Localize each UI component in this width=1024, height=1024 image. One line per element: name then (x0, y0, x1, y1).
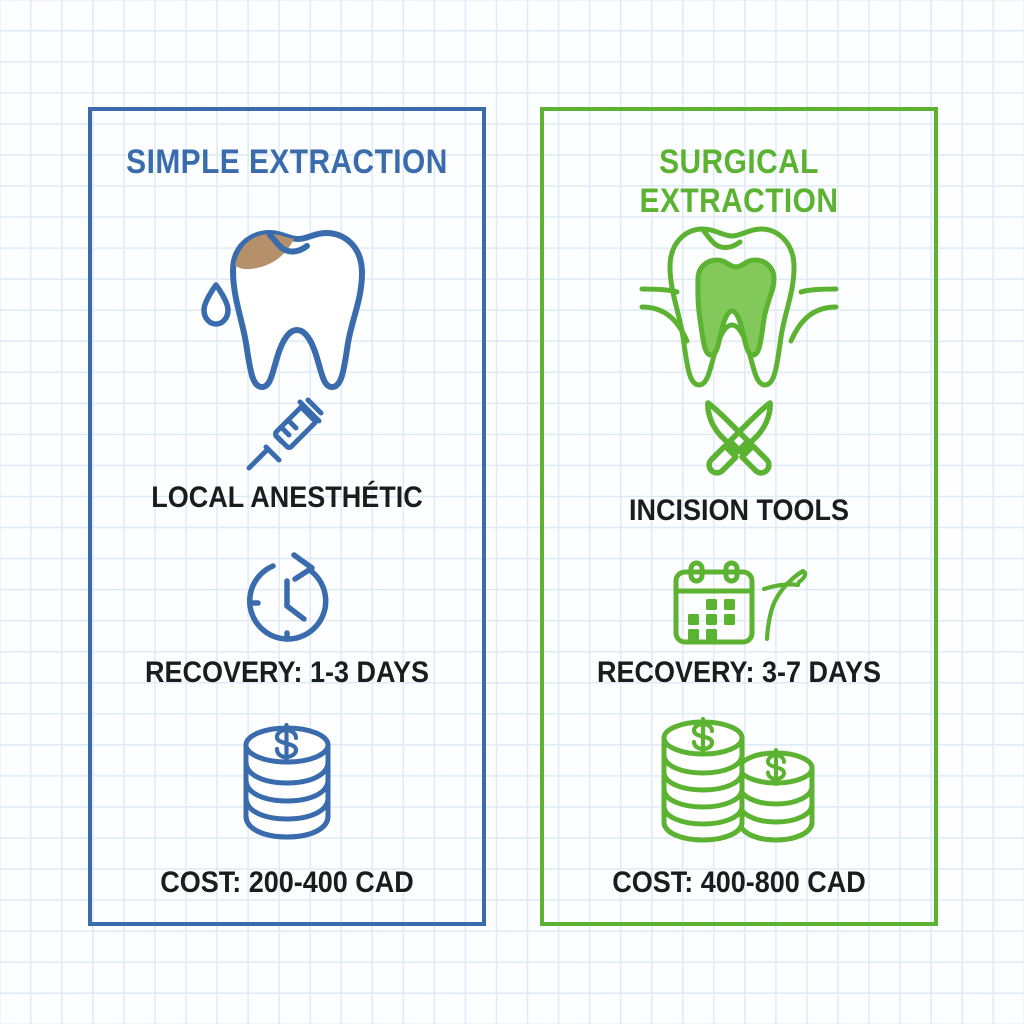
tooth-with-cavity-and-droplet-icon (92, 219, 482, 399)
label-cost-simple: COST: 200-400 CAD (112, 866, 463, 900)
panel-simple-extraction: SIMPLE EXTRACTION LOCAL ANESTHÉTIC (88, 107, 486, 926)
syringe-icon (92, 396, 482, 476)
label-recovery-surgical: RECOVERY: 3-7 DAYS (564, 656, 915, 690)
panel-surgical-extraction: SURGICAL EXTRACTION INCISION TOO (540, 107, 938, 926)
clock-arrow-icon (92, 551, 482, 651)
label-local-anesthetic: LOCAL ANESTHÉTIC (112, 481, 463, 515)
crossed-scalpels-icon (544, 397, 934, 487)
label-cost-surgical: COST: 400-800 CAD (564, 866, 915, 900)
calendar-and-suture-needle-icon (544, 559, 934, 651)
coin-stack-icon (92, 721, 482, 846)
page-title-simple-extraction: SIMPLE EXTRACTION (115, 143, 458, 182)
label-recovery-simple: RECOVERY: 1-3 DAYS (112, 656, 463, 690)
page-title-surgical-extraction: SURGICAL EXTRACTION (567, 143, 910, 221)
impacted-tooth-roots-icon (544, 219, 934, 399)
double-coin-stack-icon (544, 716, 934, 846)
label-incision-tools: INCISION TOOLS (564, 494, 915, 528)
